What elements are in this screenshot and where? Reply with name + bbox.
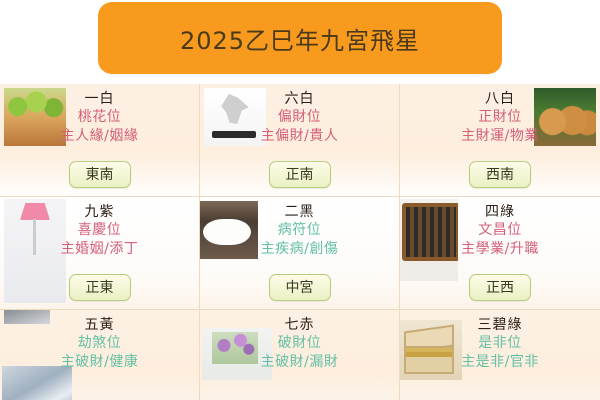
- purple-flowers-photo: [202, 328, 272, 380]
- grid-cell-south[interactable]: 六白 偏財位 主偏財/貴人 正南: [200, 84, 400, 197]
- white-bowl-photo: [200, 201, 258, 259]
- direction-badge[interactable]: 正南: [269, 161, 331, 188]
- potted-plants-photo: [4, 88, 66, 146]
- direction-badge[interactable]: 中宮: [269, 274, 331, 301]
- fortune-gods-photo: [534, 88, 596, 146]
- grid-cell-northeast[interactable]: 五黃 劫煞位 主破財/健康: [0, 310, 200, 400]
- direction-badge[interactable]: 西南: [469, 161, 531, 188]
- horse-statue-photo: [204, 88, 266, 146]
- grid-cell-center[interactable]: 二黑 病符位 主疾病/創傷 中宮: [200, 197, 400, 310]
- position-name: 劫煞位: [0, 334, 199, 352]
- grid-cell-northwest[interactable]: 三碧綠 是非位 主是非/官非: [400, 310, 600, 400]
- grid-cell-west[interactable]: 四綠 文昌位 主學業/升職 正西: [400, 197, 600, 310]
- grid-cell-east[interactable]: 九紫 喜慶位 主婚姻/添丁 正東: [0, 197, 200, 310]
- direction-badge[interactable]: 正東: [69, 274, 131, 301]
- page-title: 2025乙巳年九宮飛星: [180, 21, 420, 56]
- treasure-box-photo: [400, 320, 462, 380]
- pink-floor-lamp-photo: [4, 199, 66, 303]
- title-banner: 2025乙巳年九宮飛星: [98, 2, 502, 74]
- metal-object-photo-top: [4, 310, 50, 324]
- wooden-bookshelf-photo: [400, 199, 458, 281]
- metal-object-photo: [2, 366, 72, 400]
- direction-badge[interactable]: 東南: [69, 161, 131, 188]
- grid-cell-north[interactable]: 七赤 破財位 主破財/漏財: [200, 310, 400, 400]
- nine-palace-grid: 一白 桃花位 主人緣/姻緣 東南 六白 偏財位 主偏財/貴人 正南 八白 正財位…: [0, 84, 600, 400]
- grid-cell-southeast[interactable]: 一白 桃花位 主人緣/姻緣 東南: [0, 84, 200, 197]
- flying-stars-chart-page: 2025乙巳年九宮飛星 一白 桃花位 主人緣/姻緣 東南 六白 偏財位 主偏財/…: [0, 0, 600, 400]
- direction-badge[interactable]: 正西: [469, 274, 531, 301]
- grid-cell-southwest[interactable]: 八白 正財位 主財運/物業 西南: [400, 84, 600, 197]
